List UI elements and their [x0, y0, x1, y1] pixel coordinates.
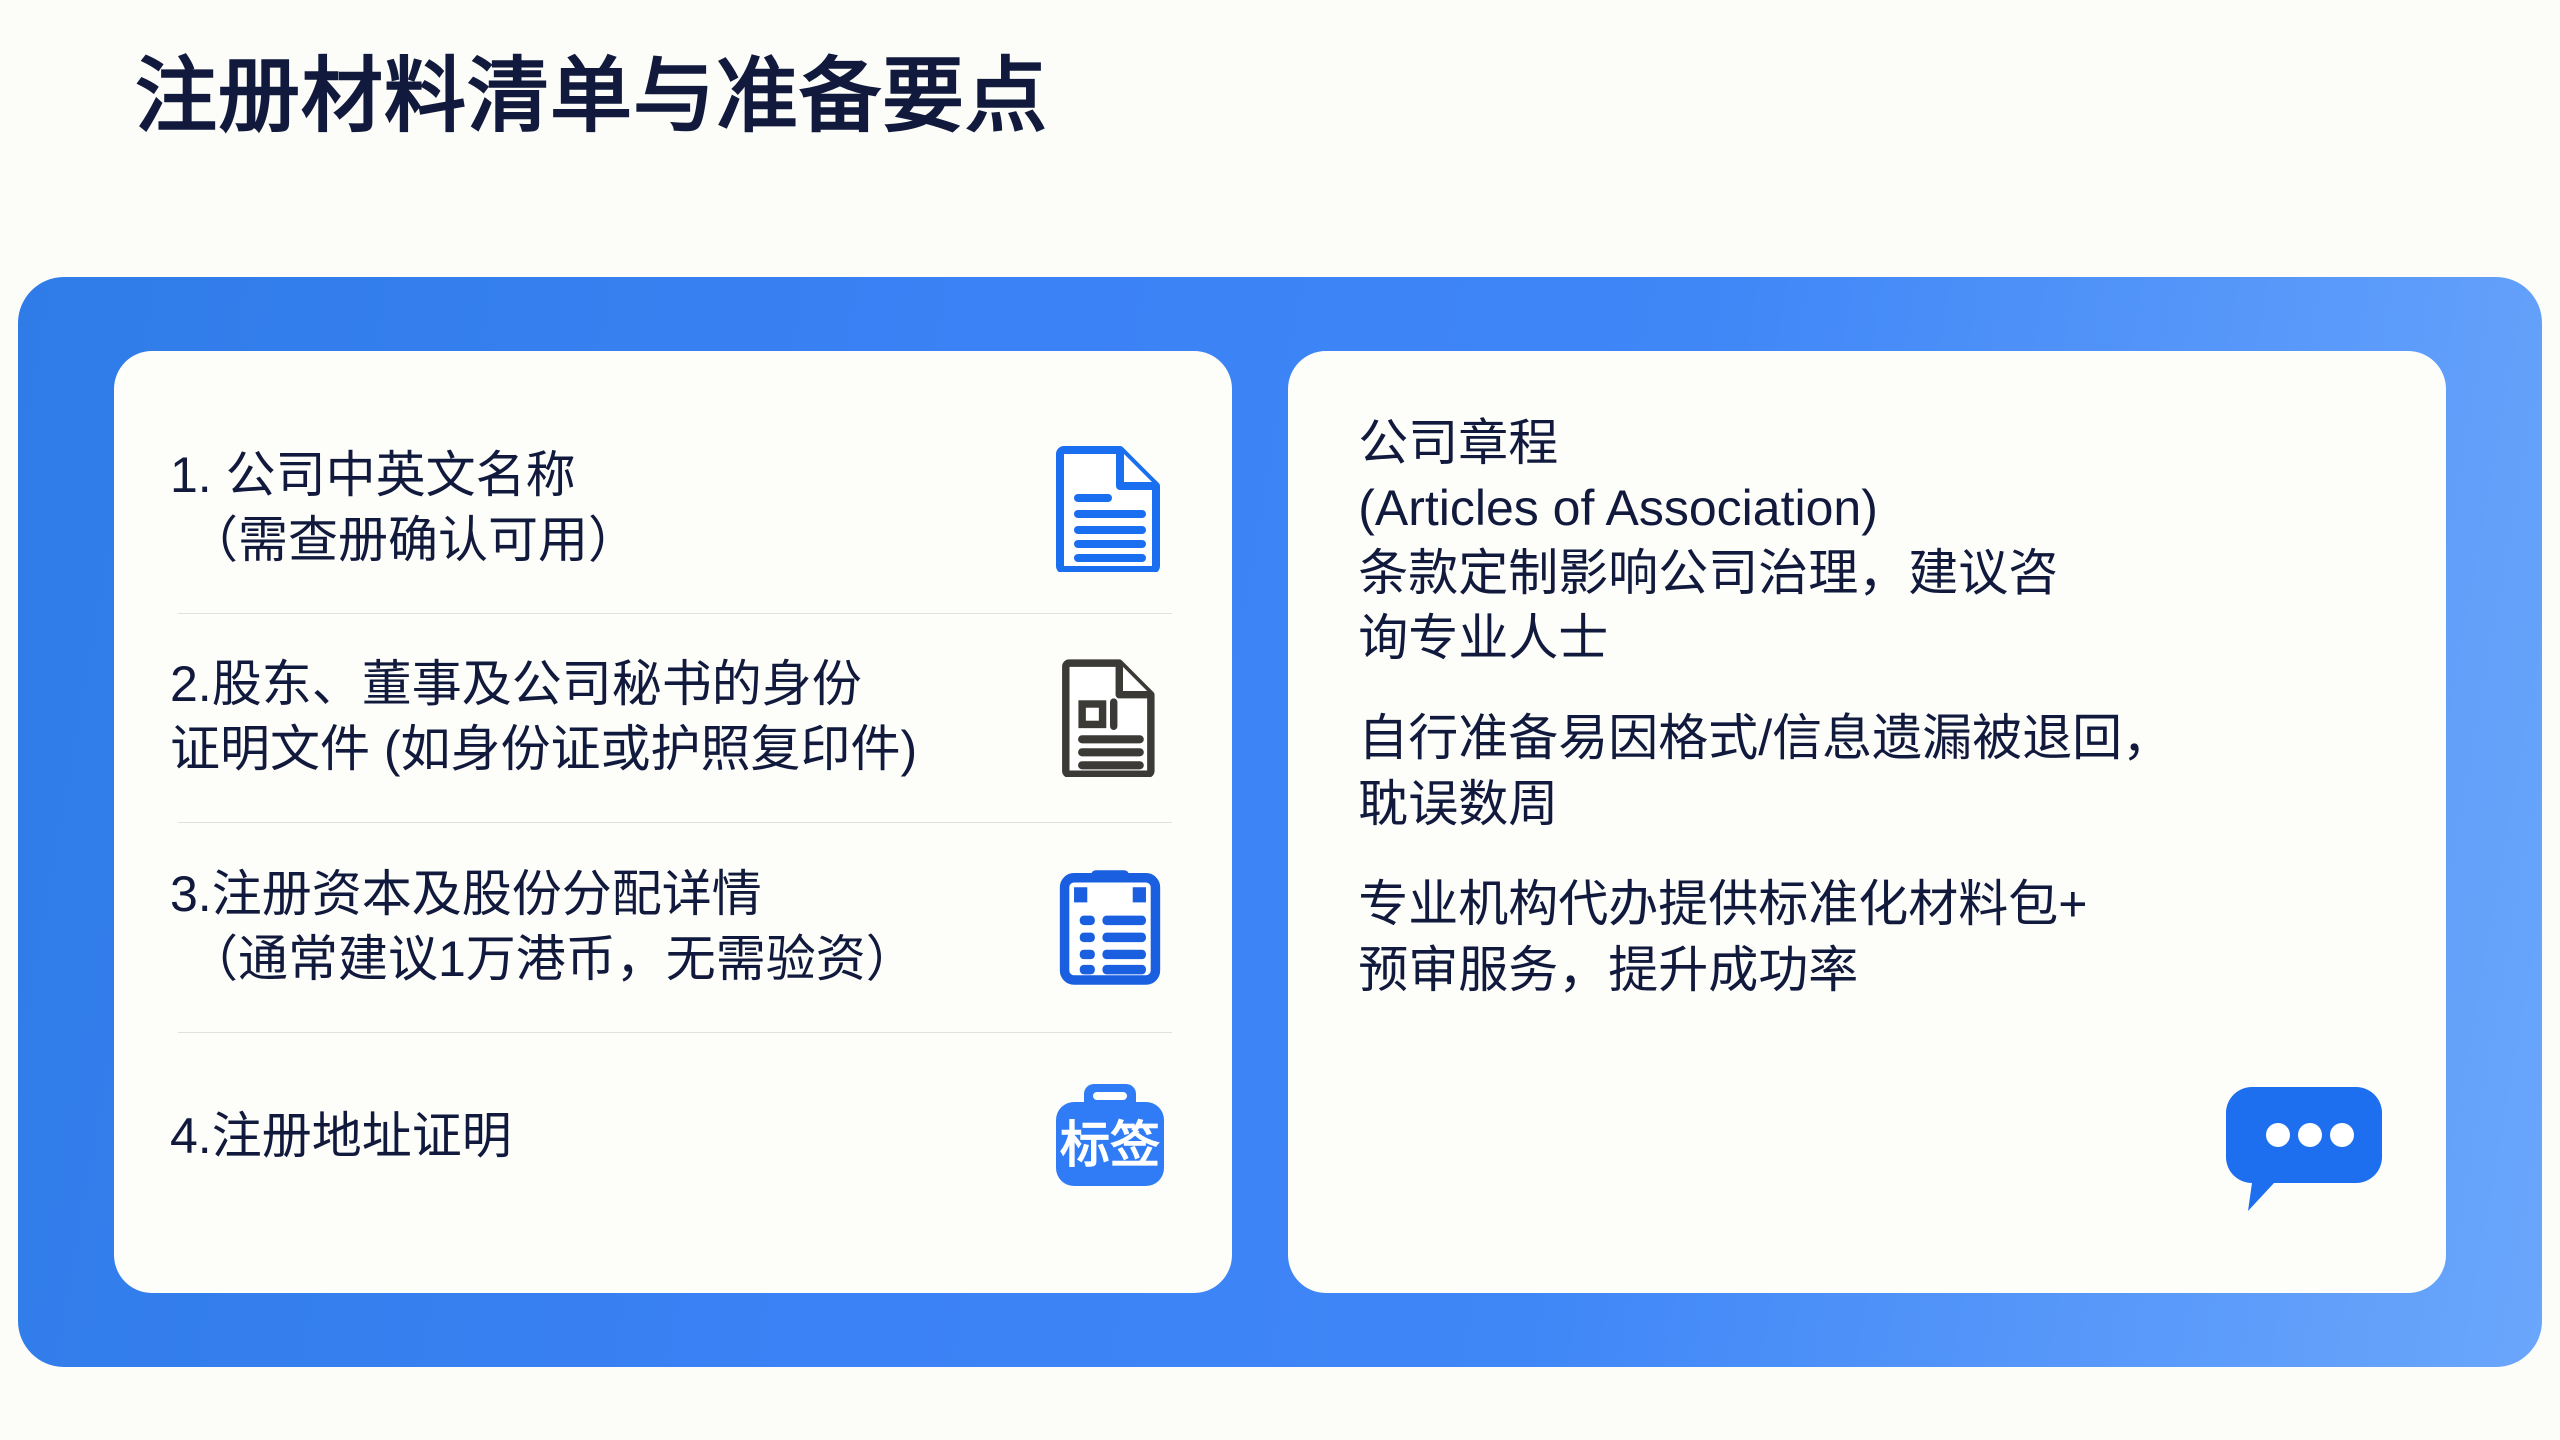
- label-badge-icon: 标签: [1040, 1061, 1180, 1211]
- clipboard-list-icon: [1040, 852, 1180, 1002]
- list-item-text: 3.注册资本及股份分配详情 （通常建议1万港币，无需验资）: [170, 862, 1014, 992]
- note-paragraph: 专业机构代办提供标准化材料包+ 预审服务，提升成功率: [1358, 871, 2388, 1003]
- list-item[interactable]: 3.注册资本及股份分配详情 （通常建议1万港币，无需验资）: [170, 822, 1180, 1032]
- slide-page: 注册材料清单与准备要点 1. 公司中英文名称 （需查册确认可用）: [0, 0, 2560, 1440]
- list-item-text: 4.注册地址证明: [170, 1104, 1014, 1169]
- note-line: 专业机构代办提供标准化材料包+: [1358, 871, 2388, 937]
- list-item-line2: （需查册确认可用）: [170, 508, 1014, 573]
- document-icon: [1040, 433, 1180, 583]
- list-item-line1: 2.股东、董事及公司秘书的身份: [170, 656, 862, 712]
- note-line: 询专业人士: [1358, 606, 2388, 671]
- list-item-line2: （通常建议1万港币，无需验资）: [170, 927, 1014, 992]
- list-item-line1: 4.注册地址证明: [170, 1108, 512, 1164]
- list-item-text: 2.股东、董事及公司秘书的身份 证明文件 (如身份证或护照复印件): [170, 652, 1014, 782]
- note-line: 预审服务，提升成功率: [1358, 937, 2388, 1003]
- articles-notes-card: 公司章程 (Articles of Association) 条款定制影响公司治…: [1288, 351, 2446, 1293]
- page-title-container: 注册材料清单与准备要点: [135, 42, 1835, 152]
- list-item-line1: 1. 公司中英文名称: [170, 447, 576, 503]
- note-line: 条款定制影响公司治理，建议咨: [1358, 541, 2388, 606]
- page-title: 注册材料清单与准备要点: [135, 54, 1048, 140]
- list-item-line1: 3.注册资本及股份分配详情: [170, 866, 762, 922]
- list-item[interactable]: 2.股东、董事及公司秘书的身份 证明文件 (如身份证或护照复印件): [170, 613, 1180, 823]
- blue-content-panel: 1. 公司中英文名称 （需查册确认可用）: [18, 277, 2542, 1367]
- note-paragraph: 自行准备易因格式/信息遗漏被退回， 耽误数周: [1358, 705, 2388, 837]
- note-paragraph: 公司章程 (Articles of Association) 条款定制影响公司治…: [1358, 411, 2388, 671]
- chat-bubble-dots-icon[interactable]: [2224, 1083, 2384, 1215]
- id-document-icon: [1040, 642, 1180, 792]
- list-item[interactable]: 4.注册地址证明 标签: [170, 1032, 1180, 1242]
- list-item-text: 1. 公司中英文名称 （需查册确认可用）: [170, 443, 1014, 573]
- list-item[interactable]: 1. 公司中英文名称 （需查册确认可用）: [170, 403, 1180, 613]
- materials-checklist-card: 1. 公司中英文名称 （需查册确认可用）: [114, 351, 1232, 1293]
- note-line: 公司章程: [1358, 411, 2388, 476]
- note-line: 自行准备易因格式/信息遗漏被退回，: [1358, 705, 2388, 771]
- note-line: (Articles of Association): [1358, 476, 2388, 541]
- list-item-line2: 证明文件 (如身份证或护照复印件): [170, 717, 1014, 782]
- label-badge-text: 标签: [1060, 1117, 1160, 1173]
- note-line: 耽误数周: [1358, 771, 2388, 837]
